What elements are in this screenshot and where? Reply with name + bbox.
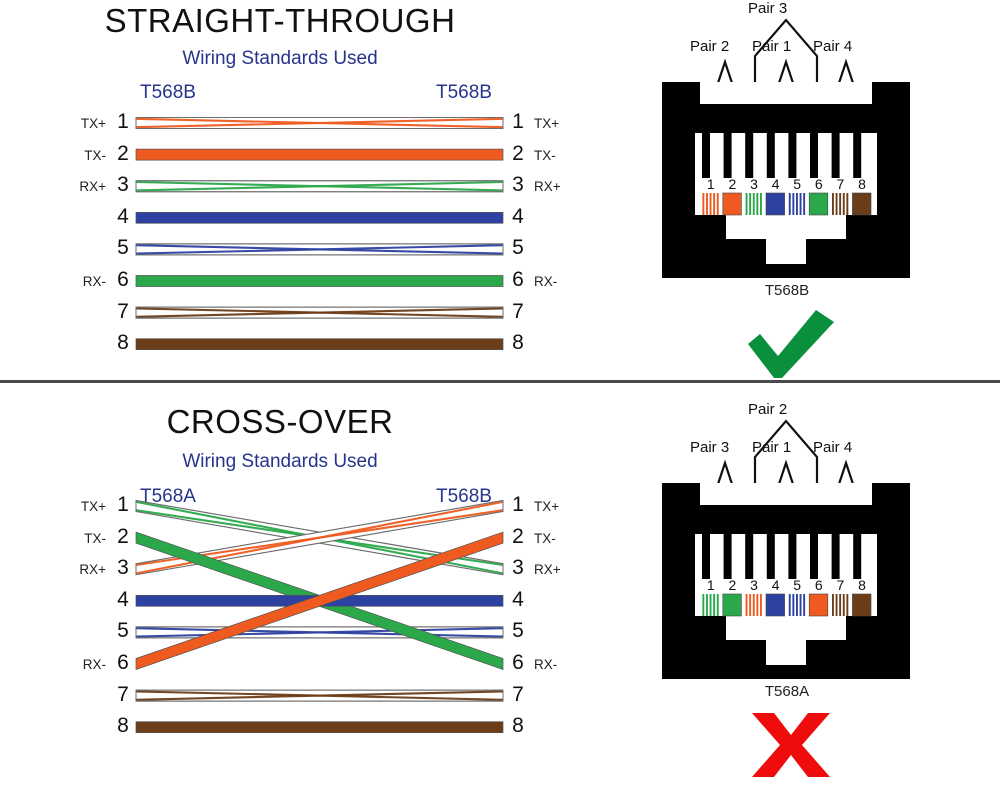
svg-text:1: 1 bbox=[707, 176, 715, 192]
svg-text:1: 1 bbox=[707, 577, 715, 593]
pin-number-right-7: 7 bbox=[508, 683, 528, 707]
pin-number-right-8: 8 bbox=[508, 331, 528, 355]
pair-label-left: Pair 3 bbox=[690, 439, 729, 456]
wire-map-cross: TX+1TX-2RX+345RX-6781TX+2TX-3RX+456RX-78 bbox=[0, 383, 560, 673]
pin-number-right-8: 8 bbox=[508, 714, 528, 738]
svg-text:7: 7 bbox=[837, 176, 845, 192]
pin-number-left-8: 8 bbox=[113, 331, 133, 355]
pin-number-left-7: 7 bbox=[113, 300, 133, 324]
pin-number-right-7: 7 bbox=[508, 300, 528, 324]
pin-number-left-8: 8 bbox=[113, 714, 133, 738]
wire-5-to-5 bbox=[136, 244, 503, 255]
svg-text:4: 4 bbox=[772, 176, 780, 192]
pair-label-left: Pair 2 bbox=[690, 38, 729, 55]
wire-5-to-5 bbox=[136, 627, 503, 638]
pair-label-right: Pair 4 bbox=[813, 38, 852, 55]
svg-text:6: 6 bbox=[815, 577, 823, 593]
connector-body bbox=[662, 483, 910, 679]
pair-label-outer: Pair 3 bbox=[748, 0, 787, 17]
rj45-connector-t568b: 12345678Pair 3Pair 2Pair 1Pair 4T568B bbox=[640, 0, 1000, 382]
connector-standard-label: T568B bbox=[622, 282, 952, 299]
cross-over-panel: CROSS-OVER Wiring Standards Used T568A T… bbox=[0, 383, 1000, 783]
svg-text:3: 3 bbox=[750, 577, 758, 593]
straight-through-panel: STRAIGHT-THROUGH Wiring Standards Used T… bbox=[0, 0, 1000, 382]
svg-text:6: 6 bbox=[815, 176, 823, 192]
svg-text:8: 8 bbox=[858, 176, 866, 192]
pair-label-center: Pair 1 bbox=[752, 38, 791, 55]
svg-text:5: 5 bbox=[793, 176, 801, 192]
rj45-connector-t568a: 12345678Pair 2Pair 3Pair 1Pair 4T568A bbox=[640, 401, 1000, 783]
wire-7-to-7 bbox=[136, 307, 503, 318]
wire-map-straight: TX+1TX-2RX+345RX-6781TX+2TX-3RX+456RX-78 bbox=[0, 0, 560, 290]
pin-number-left-7: 7 bbox=[113, 683, 133, 707]
svg-text:3: 3 bbox=[750, 176, 758, 192]
svg-text:8: 8 bbox=[858, 577, 866, 593]
wire-7-to-7 bbox=[136, 690, 503, 701]
wire-3-to-3 bbox=[136, 181, 503, 192]
pair-label-center: Pair 1 bbox=[752, 439, 791, 456]
wire-2-to-2 bbox=[136, 149, 503, 160]
cross-icon bbox=[740, 705, 860, 789]
wire-4-to-4 bbox=[136, 212, 503, 223]
wire-paths bbox=[0, 383, 560, 673]
wire-6-to-6 bbox=[136, 276, 503, 287]
svg-text:2: 2 bbox=[729, 176, 737, 192]
svg-text:5: 5 bbox=[793, 577, 801, 593]
wire-8-to-8 bbox=[136, 722, 503, 733]
svg-text:4: 4 bbox=[772, 577, 780, 593]
connector-body bbox=[662, 82, 910, 278]
wire-1-to-1 bbox=[136, 118, 503, 129]
svg-text:2: 2 bbox=[729, 577, 737, 593]
check-icon bbox=[740, 304, 860, 388]
wire-paths bbox=[0, 0, 560, 290]
connector-standard-label: T568A bbox=[622, 683, 952, 700]
wire-8-to-8 bbox=[136, 339, 503, 350]
pair-label-outer: Pair 2 bbox=[748, 401, 787, 418]
pair-label-right: Pair 4 bbox=[813, 439, 852, 456]
svg-text:7: 7 bbox=[837, 577, 845, 593]
